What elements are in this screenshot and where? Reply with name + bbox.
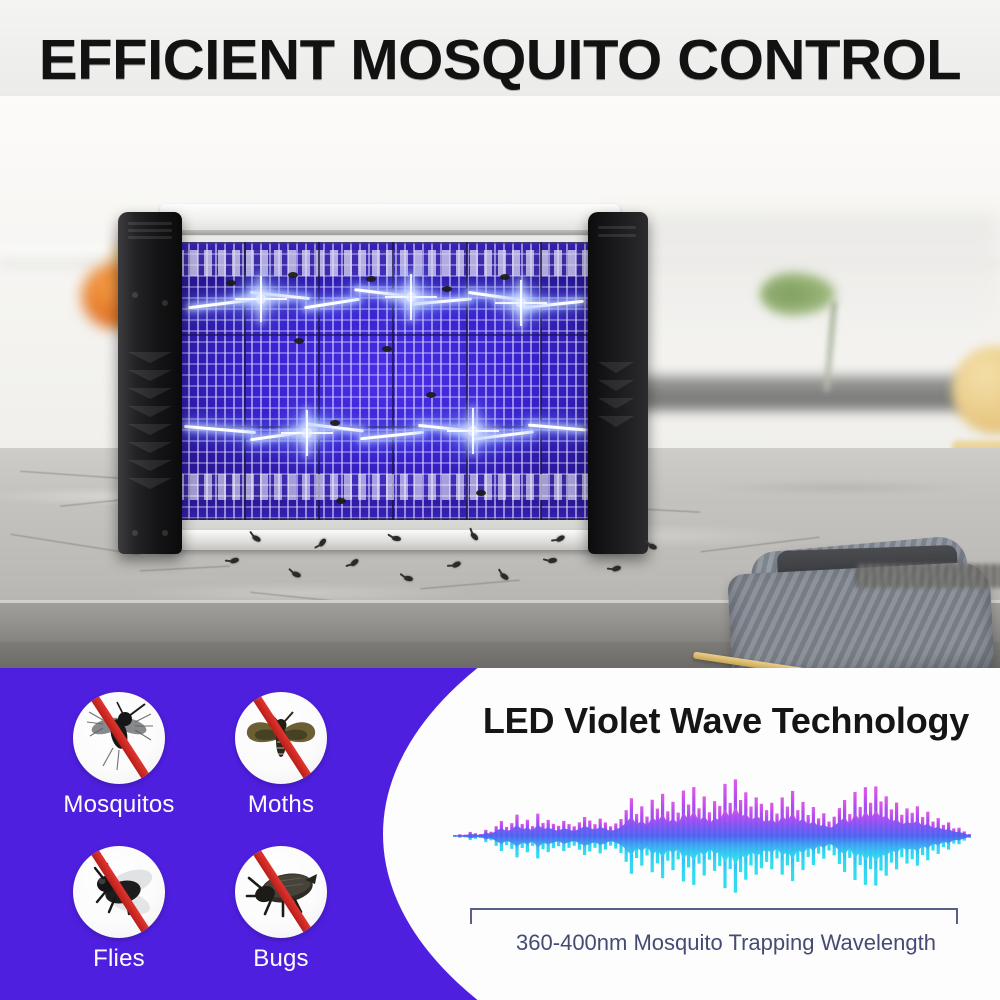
insect <box>294 338 304 344</box>
product-photo <box>0 96 1000 668</box>
insect <box>476 490 486 496</box>
mosquito-badge <box>73 692 165 784</box>
bug-zapper-device <box>118 204 648 576</box>
wavelength-caption: 360-400nm Mosquito Trapping Wavelength <box>452 930 1000 956</box>
insect <box>500 274 510 280</box>
insect <box>226 280 236 286</box>
device-left-endcap <box>118 212 182 554</box>
spark-flash <box>256 294 266 304</box>
insect <box>426 392 436 398</box>
plant-icon <box>760 271 838 317</box>
pest-label: Mosquitos <box>34 791 204 819</box>
page-title: EFFICIENT MOSQUITO CONTROL <box>0 27 1000 93</box>
insect <box>330 420 340 426</box>
beetle-badge <box>235 846 327 938</box>
insect <box>336 498 346 504</box>
pest-label: Bugs <box>196 945 366 973</box>
device-grid-housing <box>164 236 616 538</box>
spark-flash <box>468 426 478 436</box>
woven-mat <box>856 564 1000 588</box>
spark-flash <box>516 298 526 308</box>
spark-flash <box>406 292 416 302</box>
insect <box>366 276 376 282</box>
pest-item-bugs[interactable]: Bugs <box>196 846 366 973</box>
pest-item-mosquitos[interactable]: Mosquitos <box>34 692 204 819</box>
spark-flash <box>302 428 312 438</box>
fly-badge <box>73 846 165 938</box>
device-right-endcap <box>588 212 648 554</box>
moth-badge <box>235 692 327 784</box>
tech-title: LED Violet Wave Technology <box>452 700 1000 742</box>
pest-item-flies[interactable]: Flies <box>34 846 204 973</box>
insect <box>442 286 452 292</box>
insect <box>288 272 298 278</box>
insect <box>382 346 392 352</box>
uv-grid-glow <box>170 242 610 520</box>
pest-label: Flies <box>34 945 204 973</box>
device-top-edge <box>164 230 616 235</box>
product-marketing-image: EFFICIENT MOSQUITO CONTROL <box>0 0 1000 1000</box>
waveform-svg <box>452 766 972 906</box>
pest-icon-grid: Mosquitos <box>0 668 400 1000</box>
wavelength-bracket <box>470 908 958 924</box>
pest-item-moths[interactable]: Moths <box>196 692 366 819</box>
pest-label: Moths <box>196 791 366 819</box>
waveform-chart <box>452 766 972 906</box>
grid-bottom-band <box>176 474 604 500</box>
